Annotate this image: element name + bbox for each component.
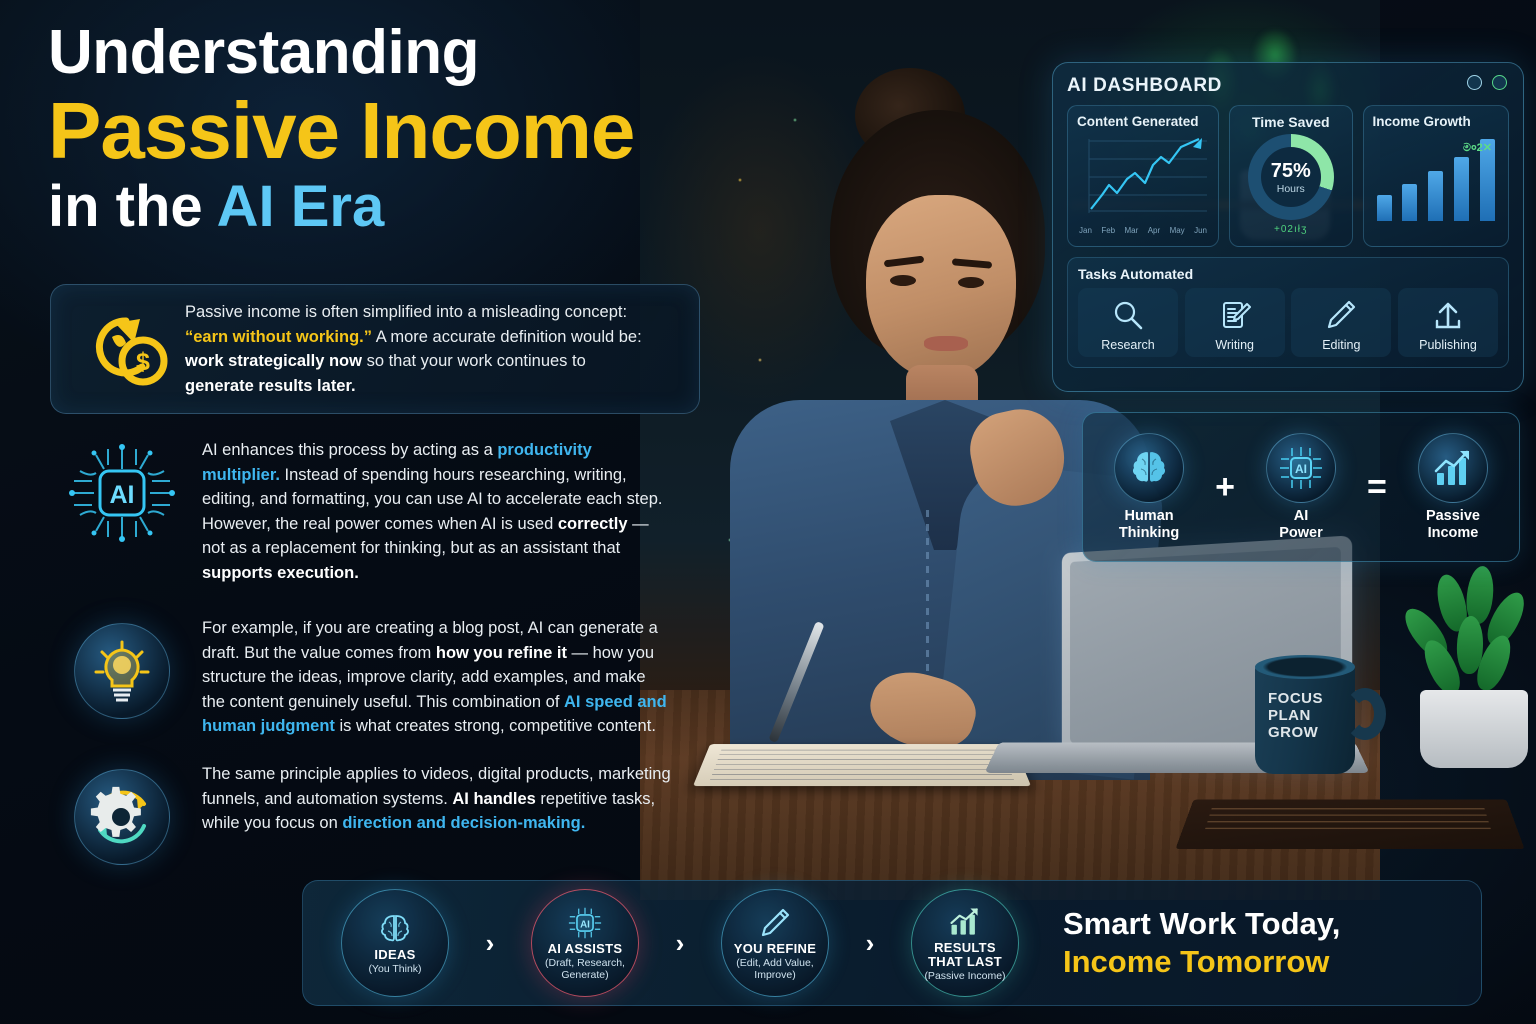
bar: [1402, 184, 1417, 221]
time-saved-title: Time Saved: [1239, 114, 1343, 130]
equation-result-label-1: Passive: [1407, 508, 1499, 525]
flow-step-ai-assists[interactable]: AI AI ASSISTS (Draft, Research, Generate…: [511, 889, 659, 997]
flow-step-ai-circle: AI AI ASSISTS (Draft, Research, Generate…: [531, 889, 639, 997]
time-saved-gauge: 75% Hours: [1248, 134, 1334, 220]
ai-multiplier-block: AI AI enhances this process by acting as…: [62, 438, 702, 585]
dashboard-status-badges: [1467, 75, 1507, 90]
flow-step-sub-1: (Draft, Research,: [545, 957, 625, 969]
process-flow-bar: IDEAS (You Think) › AI AI ASSISTS: [302, 880, 1482, 1006]
gear-cycle-icon-wrap: [62, 762, 182, 872]
chevron-right-icon: ›: [849, 928, 891, 959]
bar: [1377, 195, 1392, 221]
flow-step-results-circle: RESULTS THAT LAST (Passive Income): [911, 889, 1019, 997]
equation-ai-label-1: AI: [1255, 508, 1347, 525]
content-generated-card[interactable]: Content Generated Jan Feb Mar Apr May Ju…: [1067, 105, 1219, 247]
ai-speed-highlight: AI speed and human judgment: [202, 693, 667, 736]
magnifier-icon: [1078, 294, 1178, 336]
ai-handles-bold: AI handles: [452, 790, 535, 808]
income-growth-tag: ම०2✕: [1463, 140, 1492, 155]
month-label: May: [1170, 226, 1185, 235]
tagline-line-2: Income Tomorrow: [1063, 943, 1340, 981]
correctly-bold: correctly: [558, 515, 628, 533]
growth-chart-icon: [1418, 433, 1488, 503]
tasks-automated-title: Tasks Automated: [1078, 266, 1498, 282]
face: [866, 195, 1016, 380]
mug-text: FOCUS PLAN GROW: [1268, 690, 1346, 741]
ai-multiplier-text: AI enhances this process by acting as a …: [202, 438, 672, 585]
flow-step-sub-2: Generate): [545, 969, 625, 981]
content-generated-title: Content Generated: [1077, 114, 1209, 129]
equation-panel: Human Thinking + AI AI Power =: [1082, 412, 1520, 562]
month-label: Feb: [1101, 226, 1115, 235]
flow-step-ideas-circle: IDEAS (You Think): [341, 889, 449, 997]
task-label: Writing: [1185, 338, 1285, 352]
equation-human-label: Human Thinking: [1103, 508, 1195, 542]
task-label: Publishing: [1398, 338, 1498, 352]
book-on-desk: [1175, 800, 1524, 850]
equation-human-label-2: Thinking: [1103, 525, 1195, 542]
user-badge-icon[interactable]: [1467, 75, 1482, 90]
flow-step-title: YOU REFINE: [734, 942, 816, 956]
flow-step-you-refine[interactable]: YOU REFINE (Edit, Add Value, Improve): [701, 889, 849, 997]
refine-block: For example, if you are creating a blog …: [62, 616, 702, 739]
mug-text-line2: PLAN: [1268, 707, 1346, 724]
flow-step-sub: (You Think): [368, 963, 421, 975]
definition-text: Passive income is often simplified into …: [185, 300, 657, 398]
time-saved-subtext: +02ıłʒ: [1239, 224, 1343, 235]
gauge-percent: 75%: [1271, 160, 1311, 183]
refine-text: For example, if you are creating a blog …: [202, 616, 672, 739]
pencil-icon: [1291, 294, 1391, 336]
flow-step-results[interactable]: RESULTS THAT LAST (Passive Income): [891, 889, 1039, 997]
eye-right: [958, 277, 984, 288]
definition-card: $ Passive income is often simplified int…: [50, 284, 700, 414]
equation-ai: AI AI Power: [1255, 433, 1347, 542]
definition-quote: “earn without working.”: [185, 328, 372, 346]
direction-highlight: direction and decision-making.: [342, 814, 585, 832]
mug-handle: [1344, 688, 1386, 740]
eye-left: [890, 275, 916, 286]
flow-step-sub-1: (Edit, Add Value,: [736, 957, 813, 969]
equation-result-label-2: Income: [1407, 525, 1499, 542]
month-label: Mar: [1125, 226, 1139, 235]
income-growth-title: Income Growth: [1373, 114, 1500, 129]
ai-chip-icon: AI: [62, 438, 182, 548]
equation-ai-label-2: Power: [1255, 525, 1347, 542]
flow-step-title: IDEAS: [374, 948, 415, 962]
lightbulb-icon-wrap: [62, 616, 182, 726]
equation-ai-label: AI Power: [1255, 508, 1347, 542]
content-generated-months: Jan Feb Mar Apr May Jun: [1077, 226, 1209, 235]
lips: [924, 336, 968, 351]
gear-cycle-icon: [74, 769, 170, 865]
chevron-right-icon: ›: [659, 928, 701, 959]
tagline-line-1: Smart Work Today,: [1063, 905, 1340, 943]
task-editing[interactable]: Editing: [1291, 288, 1391, 357]
tasks-automated-section: Tasks Automated Research: [1067, 257, 1509, 368]
flow-step-ideas[interactable]: IDEAS (You Think): [321, 889, 469, 997]
growth-chart-icon: [947, 905, 983, 939]
ai-chip-icon: AI: [1266, 433, 1336, 503]
gauge-value-group: 75% Hours: [1248, 134, 1334, 220]
equation-equals-operator: =: [1367, 468, 1387, 507]
mug-rim: [1255, 655, 1355, 679]
equation-result-label: Passive Income: [1407, 508, 1499, 542]
svg-text:AI: AI: [1295, 462, 1307, 476]
ai-chip-icon: AI: [567, 906, 603, 940]
money-cycle-icon: $: [65, 294, 185, 404]
status-badge-icon[interactable]: [1492, 75, 1507, 90]
plant-pot: [1420, 690, 1528, 768]
flow-step-title-2: THAT LAST: [928, 955, 1002, 969]
flow-step-title: AI ASSISTS: [548, 942, 623, 956]
bar: [1428, 171, 1443, 221]
task-writing[interactable]: Writing: [1185, 288, 1285, 357]
flow-step-refine-circle: YOU REFINE (Edit, Add Value, Improve): [721, 889, 829, 997]
task-research[interactable]: Research: [1078, 288, 1178, 357]
content-generated-chart: [1077, 133, 1211, 219]
automation-block: The same principle applies to videos, di…: [62, 762, 702, 872]
how-you-refine-bold: how you refine it: [436, 644, 567, 662]
productivity-multiplier-highlight: productivity multiplier.: [202, 441, 592, 484]
title-line-3-prefix: in the: [48, 174, 217, 239]
svg-text:$: $: [136, 348, 150, 376]
flow-step-sub: (Edit, Add Value, Improve): [736, 957, 813, 981]
dashboard-title: AI DASHBOARD: [1067, 75, 1509, 97]
equation-human-label-1: Human: [1103, 508, 1195, 525]
flow-step-title: RESULTS THAT LAST: [928, 941, 1002, 969]
month-label: Apr: [1148, 226, 1160, 235]
upload-icon: [1398, 294, 1498, 336]
title-line-1: Understanding: [48, 18, 788, 88]
svg-text:AI: AI: [110, 481, 135, 509]
pencil-icon: [759, 906, 791, 940]
svg-text:AI: AI: [580, 919, 590, 930]
tasks-automated-row: Research Writing: [1078, 288, 1498, 357]
title-line-3-highlight: AI Era: [217, 174, 385, 239]
month-label: Jan: [1079, 226, 1092, 235]
ai-dashboard-panel[interactable]: AI DASHBOARD Content Generated Jan: [1052, 62, 1524, 392]
time-saved-card[interactable]: Time Saved 75% Hours +02ıłʒ: [1229, 105, 1353, 247]
tagline: Smart Work Today, Income Tomorrow: [1063, 905, 1340, 981]
dashboard-cards-row: Content Generated Jan Feb Mar Apr May Ju…: [1067, 105, 1509, 247]
task-label: Editing: [1291, 338, 1391, 352]
lightbulb-icon: [74, 623, 170, 719]
income-growth-card[interactable]: Income Growth ම०2✕: [1363, 105, 1510, 247]
task-publishing[interactable]: Publishing: [1398, 288, 1498, 357]
equation-human: Human Thinking: [1103, 433, 1195, 542]
mug-text-line1: FOCUS: [1268, 690, 1346, 707]
brain-icon: [378, 912, 412, 946]
chevron-right-icon: ›: [469, 928, 511, 959]
automation-text: The same principle applies to videos, di…: [202, 762, 672, 836]
definition-bold-1: work strategically now: [185, 352, 362, 370]
title-line-3: in the AI Era: [48, 174, 788, 240]
equation-result: Passive Income: [1407, 433, 1499, 542]
notebook: [693, 744, 1031, 786]
task-label: Research: [1078, 338, 1178, 352]
infographic-canvas: FOCUS PLAN GROW Understanding Passive In…: [0, 0, 1536, 1024]
page-title: Understanding Passive Income in the AI E…: [48, 18, 788, 240]
brain-icon: [1114, 433, 1184, 503]
equation-plus-operator: +: [1215, 468, 1235, 507]
bar: [1454, 157, 1469, 221]
supports-execution-bold: supports execution.: [202, 564, 359, 582]
mug-text-line3: GROW: [1268, 724, 1346, 741]
flow-step-sub-2: Improve): [736, 969, 813, 981]
gauge-unit: Hours: [1277, 183, 1305, 195]
document-pen-icon: [1185, 294, 1285, 336]
definition-bold-2: generate results later.: [185, 377, 356, 395]
title-line-2: Passive Income: [48, 88, 788, 174]
month-label: Jun: [1194, 226, 1207, 235]
flow-step-sub: (Passive Income): [924, 970, 1005, 982]
flow-step-sub: (Draft, Research, Generate): [545, 957, 625, 981]
flow-step-title-1: RESULTS: [928, 941, 1002, 955]
